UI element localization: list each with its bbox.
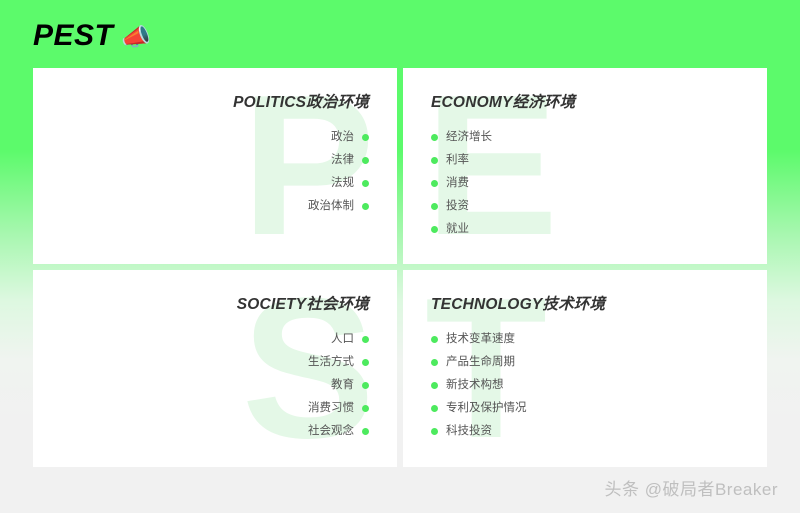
card-technology-list: 技术变革速度 产品生命周期 新技术构想 专利及保护情况 <box>431 328 739 443</box>
list-item[interactable]: 科技投资 <box>431 420 739 443</box>
list-item[interactable]: 经济增长 <box>431 126 739 149</box>
list-item-label: 专利及保护情况 <box>446 397 527 420</box>
list-item[interactable]: 利率 <box>431 149 739 172</box>
bullet-dot-icon <box>431 359 438 366</box>
card-economy-list: 经济增长 利率 消费 投资 <box>431 126 739 241</box>
list-item[interactable]: 生活方式 <box>61 351 369 374</box>
watermark: 头条 @破局者Breaker <box>604 475 778 500</box>
list-item-label: 经济增长 <box>446 126 492 149</box>
megaphone-icon: 📣 <box>121 26 151 50</box>
card-politics-list: 政治 法律 法规 政治体制 <box>61 126 369 218</box>
page-title-text: PEST <box>33 21 113 51</box>
card-society[interactable]: S SOCIETY社会环境 人口 生活方式 教育 <box>33 270 397 467</box>
card-economy[interactable]: E ECONOMY经济环境 经济增长 利率 消费 <box>403 68 767 264</box>
list-item-label: 法律 <box>331 149 354 172</box>
list-item[interactable]: 政治体制 <box>61 195 369 218</box>
card-politics-body: POLITICS政治环境 政治 法律 法规 政治体制 <box>33 68 397 264</box>
list-item[interactable]: 就业 <box>431 218 739 241</box>
card-politics-heading: POLITICS政治环境 <box>61 90 369 112</box>
list-item-label: 技术变革速度 <box>446 328 515 351</box>
list-item[interactable]: 新技术构想 <box>431 374 739 397</box>
card-society-heading: SOCIETY社会环境 <box>61 292 369 314</box>
list-item-label: 消费 <box>446 172 469 195</box>
list-item-label: 社会观念 <box>308 420 354 443</box>
bullet-dot-icon <box>431 157 438 164</box>
bullet-dot-icon <box>362 359 369 366</box>
bullet-dot-icon <box>431 134 438 141</box>
bullet-dot-icon <box>431 405 438 412</box>
page-title: PEST 📣 <box>33 16 151 56</box>
list-item-label: 新技术构想 <box>446 374 504 397</box>
list-item-label: 产品生命周期 <box>446 351 515 374</box>
list-item-label: 法规 <box>331 172 354 195</box>
list-item-label: 利率 <box>446 149 469 172</box>
list-item[interactable]: 人口 <box>61 328 369 351</box>
bullet-dot-icon <box>362 382 369 389</box>
list-item-label: 教育 <box>331 374 354 397</box>
bullet-dot-icon <box>431 203 438 210</box>
card-politics[interactable]: P POLITICS政治环境 政治 法律 法规 <box>33 68 397 264</box>
bullet-dot-icon <box>362 405 369 412</box>
list-item-label: 消费习惯 <box>308 397 354 420</box>
list-item-label: 就业 <box>446 218 469 241</box>
card-society-body: SOCIETY社会环境 人口 生活方式 教育 消费习惯 <box>33 270 397 467</box>
bullet-dot-icon <box>362 180 369 187</box>
bullet-dot-icon <box>362 157 369 164</box>
list-item[interactable]: 社会观念 <box>61 420 369 443</box>
list-item-label: 科技投资 <box>446 420 492 443</box>
list-item-label: 政治体制 <box>308 195 354 218</box>
list-item-label: 政治 <box>331 126 354 149</box>
bullet-dot-icon <box>362 203 369 210</box>
list-item[interactable]: 投资 <box>431 195 739 218</box>
list-item-label: 生活方式 <box>308 351 354 374</box>
list-item[interactable]: 法律 <box>61 149 369 172</box>
list-item[interactable]: 技术变革速度 <box>431 328 739 351</box>
list-item-label: 投资 <box>446 195 469 218</box>
list-item[interactable]: 专利及保护情况 <box>431 397 739 420</box>
pest-diagram-canvas: PEST 📣 P POLITICS政治环境 政治 法律 法规 <box>0 0 800 513</box>
pest-card-grid: P POLITICS政治环境 政治 法律 法规 <box>33 68 767 467</box>
card-technology-body: TECHNOLOGY技术环境 技术变革速度 产品生命周期 新技术构想 <box>403 270 767 467</box>
list-item[interactable]: 消费习惯 <box>61 397 369 420</box>
card-society-list: 人口 生活方式 教育 消费习惯 <box>61 328 369 443</box>
card-technology-heading: TECHNOLOGY技术环境 <box>431 292 739 314</box>
list-item[interactable]: 法规 <box>61 172 369 195</box>
list-item[interactable]: 政治 <box>61 126 369 149</box>
list-item[interactable]: 产品生命周期 <box>431 351 739 374</box>
bullet-dot-icon <box>362 428 369 435</box>
bullet-dot-icon <box>362 134 369 141</box>
bullet-dot-icon <box>431 336 438 343</box>
bullet-dot-icon <box>431 428 438 435</box>
card-economy-heading: ECONOMY经济环境 <box>431 90 739 112</box>
bullet-dot-icon <box>431 180 438 187</box>
bullet-dot-icon <box>431 226 438 233</box>
list-item[interactable]: 教育 <box>61 374 369 397</box>
list-item[interactable]: 消费 <box>431 172 739 195</box>
bullet-dot-icon <box>431 382 438 389</box>
card-economy-body: ECONOMY经济环境 经济增长 利率 消费 <box>403 68 767 264</box>
card-technology[interactable]: T TECHNOLOGY技术环境 技术变革速度 产品生命周期 新技术构想 <box>403 270 767 467</box>
bullet-dot-icon <box>362 336 369 343</box>
list-item-label: 人口 <box>331 328 354 351</box>
